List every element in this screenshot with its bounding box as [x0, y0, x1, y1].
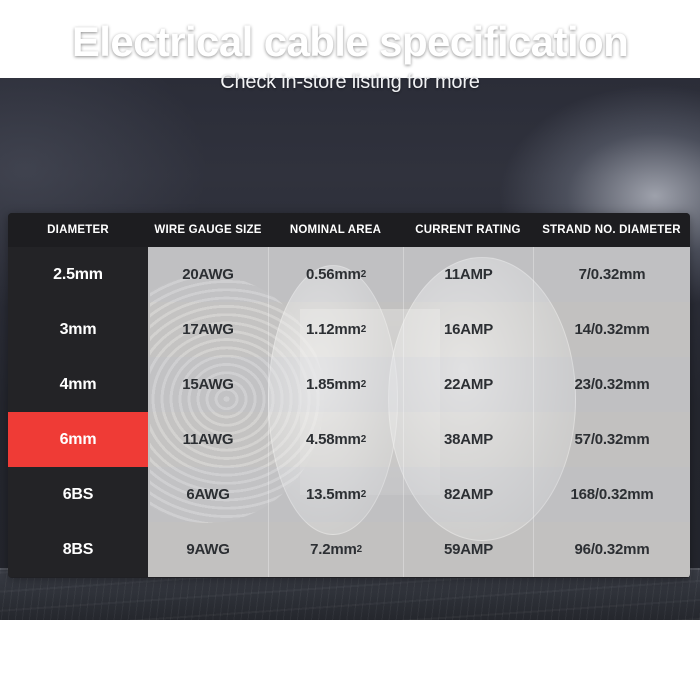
- nominal-area-value: 1.85mm: [306, 376, 361, 393]
- cell-current-rating: 16AMP: [403, 302, 533, 357]
- table-row[interactable]: 6mm11AWG4.58mm238AMP57/0.32mm: [8, 412, 690, 467]
- column-header-strand-no-diameter: STRAND NO. DIAMETER: [533, 213, 690, 247]
- nominal-area-value: 0.56mm: [306, 266, 361, 283]
- cell-diameter: 2.5mm: [8, 247, 148, 302]
- cell-nominal-area: 1.85mm2: [268, 357, 403, 412]
- cell-nominal-area: 7.2mm2: [268, 522, 403, 577]
- cell-current-rating: 82AMP: [403, 467, 533, 522]
- cell-diameter: 6BS: [8, 467, 148, 522]
- cell-nominal-area: 0.56mm2: [268, 247, 403, 302]
- cable-specification-table: DIAMETER WIRE GAUGE SIZE NOMINAL AREA CU…: [8, 213, 690, 578]
- table-row[interactable]: 6BS6AWG13.5mm282AMP168/0.32mm: [8, 467, 690, 522]
- column-header-wire-gauge-size: WIRE GAUGE SIZE: [148, 213, 268, 247]
- cell-diameter: 6mm: [8, 412, 148, 467]
- product-spec-image: Electrical cable specification Check in-…: [0, 0, 700, 700]
- cell-strand-no-diameter: 168/0.32mm: [533, 467, 690, 522]
- cell-wire-gauge-size: 11AWG: [148, 412, 268, 467]
- cell-current-rating: 11AMP: [403, 247, 533, 302]
- table-row[interactable]: 2.5mm20AWG0.56mm211AMP7/0.32mm: [8, 247, 690, 302]
- table-row[interactable]: 3mm17AWG1.12mm216AMP14/0.32mm: [8, 302, 690, 357]
- cell-strand-no-diameter: 14/0.32mm: [533, 302, 690, 357]
- nominal-area-value: 13.5mm: [306, 486, 361, 503]
- cell-strand-no-diameter: 96/0.32mm: [533, 522, 690, 577]
- column-header-current-rating: CURRENT RATING: [403, 213, 533, 247]
- page-title: Electrical cable specification: [0, 20, 700, 65]
- cell-strand-no-diameter: 23/0.32mm: [533, 357, 690, 412]
- table-row[interactable]: 4mm15AWG1.85mm222AMP23/0.32mm: [8, 357, 690, 412]
- cell-wire-gauge-size: 6AWG: [148, 467, 268, 522]
- nominal-area-value: 4.58mm: [306, 431, 361, 448]
- table-row[interactable]: 8BS9AWG7.2mm259AMP96/0.32mm: [8, 522, 690, 577]
- cell-wire-gauge-size: 9AWG: [148, 522, 268, 577]
- page-subtitle: Check in-store listing for more: [0, 71, 700, 94]
- cell-wire-gauge-size: 15AWG: [148, 357, 268, 412]
- cell-nominal-area: 4.58mm2: [268, 412, 403, 467]
- cell-diameter: 3mm: [8, 302, 148, 357]
- cell-nominal-area: 13.5mm2: [268, 467, 403, 522]
- cell-strand-no-diameter: 7/0.32mm: [533, 247, 690, 302]
- table-body: 2.5mm20AWG0.56mm211AMP7/0.32mm3mm17AWG1.…: [8, 247, 690, 577]
- table-header-row: DIAMETER WIRE GAUGE SIZE NOMINAL AREA CU…: [8, 213, 690, 247]
- heading-block: Electrical cable specification Check in-…: [0, 20, 700, 94]
- cell-strand-no-diameter: 57/0.32mm: [533, 412, 690, 467]
- cell-current-rating: 38AMP: [403, 412, 533, 467]
- column-header-diameter: DIAMETER: [8, 213, 148, 247]
- nominal-area-value: 1.12mm: [306, 321, 361, 338]
- column-header-nominal-area: NOMINAL AREA: [268, 213, 403, 247]
- nominal-area-value: 7.2mm: [310, 541, 357, 558]
- cell-nominal-area: 1.12mm2: [268, 302, 403, 357]
- cell-wire-gauge-size: 17AWG: [148, 302, 268, 357]
- cell-current-rating: 22AMP: [403, 357, 533, 412]
- cell-current-rating: 59AMP: [403, 522, 533, 577]
- cell-diameter: 8BS: [8, 522, 148, 577]
- cell-diameter: 4mm: [8, 357, 148, 412]
- cell-wire-gauge-size: 20AWG: [148, 247, 268, 302]
